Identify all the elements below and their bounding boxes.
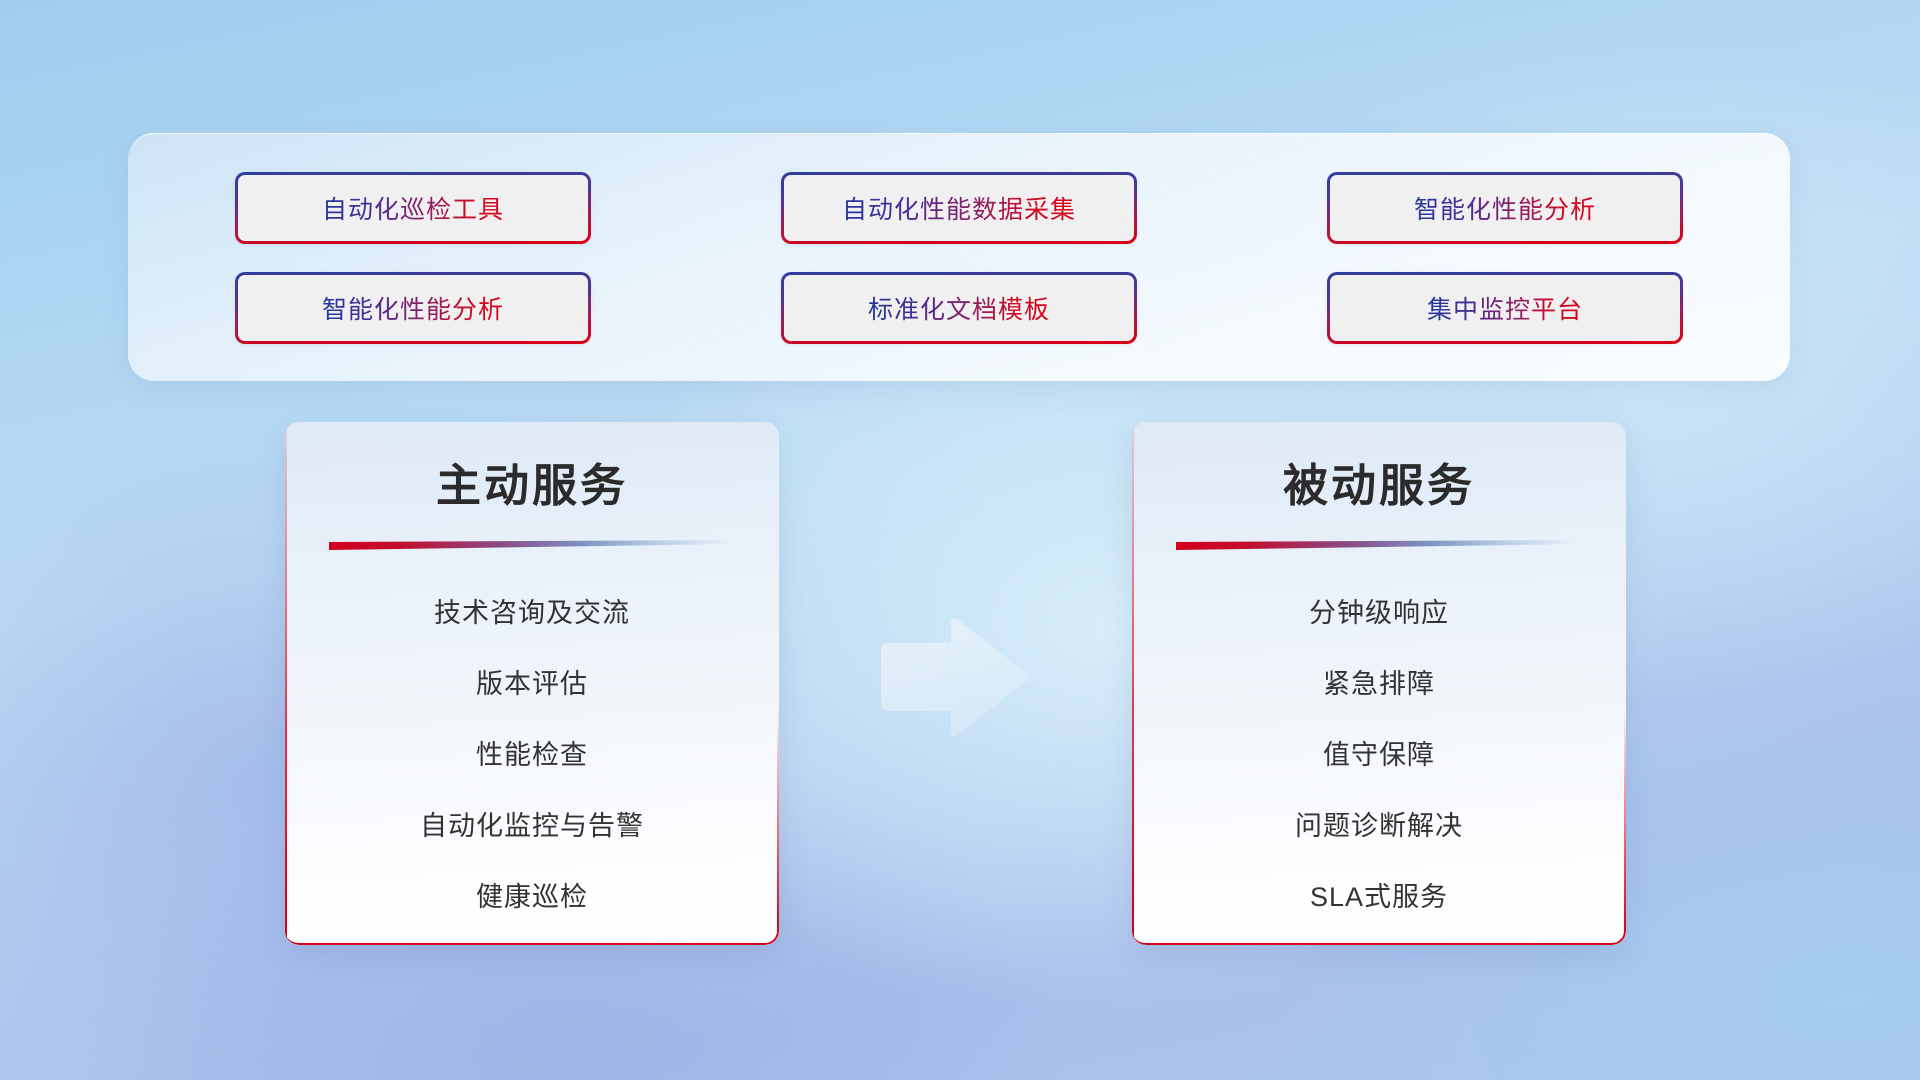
slide-canvas: 自动化巡检工具 自动化性能数据采集 智能化性能分析 智能化性能分析 标准化文档模… xyxy=(0,0,1920,1080)
service-list-item: 健康巡检 xyxy=(329,862,735,933)
right-arrow-icon xyxy=(873,617,1031,737)
service-list-item: 分钟级响应 xyxy=(1176,578,1582,649)
service-list-item: 版本评估 xyxy=(329,649,735,720)
service-list-item: 问题诊断解决 xyxy=(1176,791,1582,862)
capability-tag[interactable]: 自动化性能数据采集 xyxy=(781,172,1137,244)
service-list-item: 技术咨询及交流 xyxy=(329,578,735,649)
capability-tag-label: 自动化性能数据采集 xyxy=(842,190,1076,226)
capability-tag[interactable]: 集中监控平台 xyxy=(1327,272,1683,344)
service-list-item: 值守保障 xyxy=(1176,720,1582,791)
capability-tag-label: 自动化巡检工具 xyxy=(322,190,504,226)
card-divider xyxy=(1176,540,1582,552)
capability-tag[interactable]: 自动化巡检工具 xyxy=(235,172,591,244)
capabilities-panel: 自动化巡检工具 自动化性能数据采集 智能化性能分析 智能化性能分析 标准化文档模… xyxy=(128,133,1790,381)
capability-tag[interactable]: 智能化性能分析 xyxy=(1327,172,1683,244)
service-list-item: 性能检查 xyxy=(329,720,735,791)
service-list-item: 自动化监控与告警 xyxy=(329,791,735,862)
capability-tag-label: 智能化性能分析 xyxy=(322,290,504,326)
service-item-list: 技术咨询及交流 版本评估 性能检查 自动化监控与告警 健康巡检 xyxy=(329,578,735,933)
capability-tag-grid: 自动化巡检工具 自动化性能数据采集 智能化性能分析 智能化性能分析 标准化文档模… xyxy=(235,172,1683,344)
service-item-list: 分钟级响应 紧急排障 值守保障 问题诊断解决 SLA式服务 xyxy=(1176,578,1582,933)
capability-tag[interactable]: 智能化性能分析 xyxy=(235,272,591,344)
service-card-title: 被动服务 xyxy=(1176,458,1582,514)
capability-tag-label: 集中监控平台 xyxy=(1427,290,1583,326)
service-list-item: SLA式服务 xyxy=(1176,862,1582,933)
service-list-item: 紧急排障 xyxy=(1176,649,1582,720)
service-card-active[interactable]: 主动服务 xyxy=(285,422,779,945)
capability-tag-label: 智能化性能分析 xyxy=(1414,190,1596,226)
capability-tag-label: 标准化文档模板 xyxy=(868,290,1050,326)
capability-tag[interactable]: 标准化文档模板 xyxy=(781,272,1137,344)
service-card-passive[interactable]: 被动服务 xyxy=(1132,422,1626,945)
service-card-title: 主动服务 xyxy=(329,458,735,514)
card-divider xyxy=(329,540,735,552)
